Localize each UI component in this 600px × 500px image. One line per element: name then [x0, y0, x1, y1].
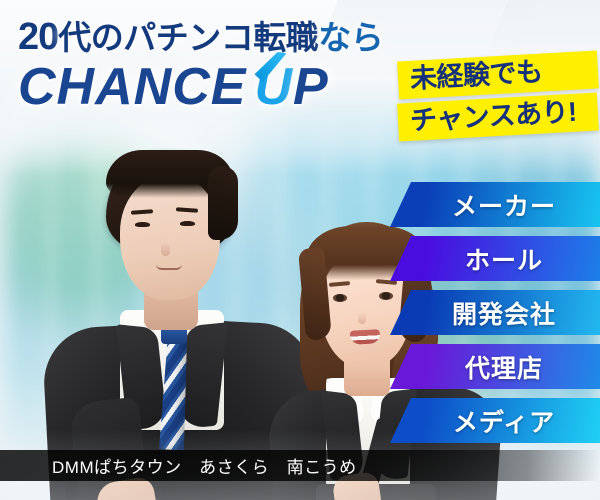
headline-number: 20: [18, 16, 58, 58]
category-label: メディア: [435, 403, 555, 439]
man-eye-right: [180, 221, 195, 226]
caption-text: DMMぱちタウン あさくら 南こうめ: [0, 453, 357, 478]
category-button-maker[interactable]: メーカー: [390, 182, 600, 227]
headline-block: 20代のパチンコ転職なら CHANCEUP: [18, 18, 438, 113]
headline-chance-word: CHANCE: [18, 58, 246, 116]
headline-line-1-tail: なら: [318, 19, 383, 56]
badge-line-1: 未経験でも: [397, 50, 599, 99]
man-nose: [161, 242, 170, 256]
category-list: メーカー ホール 開発会社 代理店 メディア: [390, 182, 600, 452]
category-button-agency[interactable]: 代理店: [390, 344, 600, 389]
man-mouth: [156, 264, 182, 270]
woman-nose: [358, 312, 366, 324]
headline-up-letter-p: P: [293, 58, 329, 116]
caption-bar: DMMぱちタウン あさくら 南こうめ: [0, 450, 600, 481]
badge-line-2: チャンスあり!: [397, 92, 599, 141]
man-eye-left: [135, 222, 150, 227]
headline-up-word: UP: [254, 61, 328, 113]
category-button-hall[interactable]: ホール: [390, 236, 600, 281]
category-label: メーカー: [434, 187, 556, 223]
headline-line-2: CHANCEUP: [18, 61, 438, 113]
woman-eye-left: [333, 294, 347, 302]
headline-line-1-text: 代のパチンコ転職: [58, 19, 318, 56]
headline-up-letter-u: U: [254, 58, 293, 116]
headline-line-1: 20代のパチンコ転職なら: [18, 18, 438, 56]
category-button-developer[interactable]: 開発会社: [390, 290, 600, 335]
category-label: 代理店: [447, 349, 543, 385]
advertisement-banner[interactable]: 20代のパチンコ転職なら CHANCEUP 未経験でも チャンスあり! メーカー…: [0, 0, 600, 500]
category-label: ホール: [447, 241, 543, 277]
category-label: 開発会社: [434, 295, 556, 331]
man-hair-side: [208, 166, 238, 240]
highlight-badge: 未経験でも チャンスあり!: [398, 56, 598, 136]
category-button-media[interactable]: メディア: [390, 398, 600, 443]
